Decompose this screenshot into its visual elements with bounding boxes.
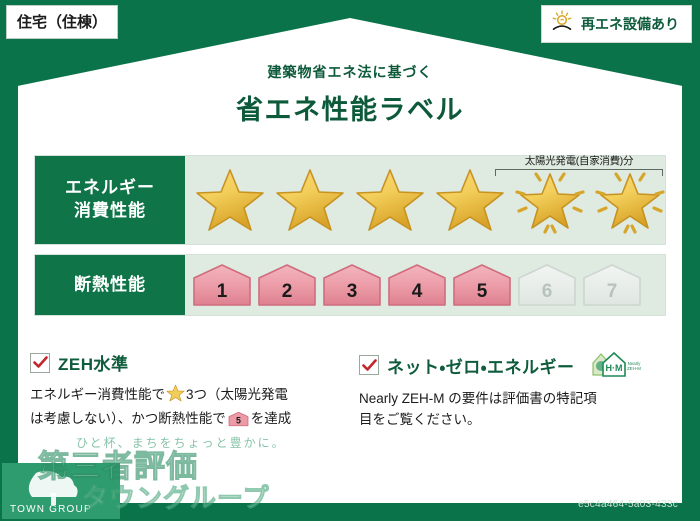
insulation-grade-badge: 7 <box>581 263 643 307</box>
star-filled <box>271 166 349 234</box>
insulation-grade-badge: 3 <box>321 263 383 307</box>
category-tag: 住宅（住棟） <box>6 5 118 39</box>
insulation-grade-badge: 4 <box>386 263 448 307</box>
sun-icon <box>550 10 574 37</box>
insulation-grade-badge: 2 <box>256 263 318 307</box>
criterion-zeh: ZEH水準 エネルギー消費性能で3つ（太陽光発電は考慮しない）、かつ断熱性能で5… <box>30 350 341 434</box>
check-icon <box>362 359 377 372</box>
star-icon <box>166 390 185 405</box>
insulation-grade-number: 7 <box>607 281 618 303</box>
check-icon <box>33 356 48 369</box>
insulation-grade-badge: 1 <box>191 263 253 307</box>
renewable-badge-label: 再エネ設備あり <box>581 14 679 34</box>
svg-text:ZEH-M: ZEH-M <box>627 366 641 371</box>
renewable-energy-badge: 再エネ設備あり <box>541 5 692 43</box>
town-group-logo: TOWN GROUP <box>2 463 120 519</box>
insulation-performance-row: 断熱性能 <box>34 254 666 316</box>
energy-row-value: 太陽光発電(自家消費)分 <box>185 156 669 244</box>
insulation-grade-scale: 1 2 3 <box>191 263 643 307</box>
star-filled <box>431 166 509 234</box>
insulation-grade-number: 6 <box>542 281 553 303</box>
criterion-nze-title: ネット・ゼロ・エネルギー <box>387 353 575 378</box>
zeh-desc-part4: を達成 <box>251 411 292 426</box>
zeh-desc-part3: は考慮しない）、かつ断熱性能で <box>30 411 226 426</box>
net-zero-checkbox[interactable] <box>359 355 379 375</box>
nze-desc-part2: 目をご覧ください。 <box>359 412 481 427</box>
evaluation-code: e5c4a464-5a03-433c <box>578 499 678 510</box>
criterion-nze-description: Nearly ZEH-M の要件は評価書の特記項目をご覧ください。 <box>359 389 670 431</box>
town-group-text: TOWN GROUP <box>10 504 92 515</box>
energy-label-line1: エネルギー <box>65 177 155 200</box>
criterion-net-zero-energy: ネット・ゼロ・エネルギー H·M Nearly ZEH-M Nearly ZEH… <box>359 350 670 434</box>
insulation-row-value: 1 2 3 <box>185 255 665 315</box>
nze-desc-part1: Nearly ZEH-M の要件は評価書の特記項 <box>359 391 597 406</box>
insulation-row-label: 断熱性能 <box>35 255 185 315</box>
evaluation-date: 評価日 2025年11月13日 <box>538 473 682 493</box>
energy-performance-label: 住宅（住棟） 再エネ設備あり 建築物省エネ法に基づく 省エネ性能ラベル <box>0 0 700 521</box>
zeh-m-logo-icon: H·M Nearly ZEH-M <box>589 350 643 380</box>
insulation-grade-inline-badge: 5 <box>228 415 249 430</box>
label-title-block: 建築物省エネ法に基づく 省エネ性能ラベル <box>0 62 700 127</box>
svg-text:5: 5 <box>236 416 241 426</box>
insulation-grade-badge: 5 <box>451 263 513 307</box>
criterion-zeh-description: エネルギー消費性能で3つ（太陽光発電は考慮しない）、かつ断熱性能で5を達成 <box>30 384 341 434</box>
energy-star-rating <box>191 164 669 236</box>
insulation-grade-number: 2 <box>282 281 293 303</box>
energy-performance-row: エネルギー 消費性能 太陽光発電(自家消費)分 <box>34 155 666 245</box>
performance-rows: エネルギー 消費性能 太陽光発電(自家消費)分 <box>34 155 666 325</box>
star-solar-sparkle <box>511 164 589 236</box>
star-solar-sparkle <box>591 164 669 236</box>
zeh-checkbox[interactable] <box>30 353 50 373</box>
page-title: 省エネ性能ラベル <box>0 88 700 127</box>
insulation-grade-number: 5 <box>477 281 488 303</box>
criterion-zeh-title: ZEH水準 <box>58 350 129 375</box>
title-subtitle: 建築物省エネ法に基づく <box>0 62 700 82</box>
insulation-grade-number: 3 <box>347 281 358 303</box>
insulation-grade-number: 1 <box>217 281 228 303</box>
criteria-section: ZEH水準 エネルギー消費性能で3つ（太陽光発電は考慮しない）、かつ断熱性能で5… <box>30 350 670 434</box>
insulation-grade-number: 4 <box>412 281 423 303</box>
zeh-desc-part1: エネルギー消費性能で <box>30 387 165 402</box>
project-name: ②足立区北加平町１ＰＪ <box>232 479 390 499</box>
star-filled <box>191 166 269 234</box>
star-filled <box>351 166 429 234</box>
zeh-desc-part2: 3つ（太陽光発電 <box>186 387 288 402</box>
energy-label-line2: 消費性能 <box>74 200 146 223</box>
svg-text:H·M: H·M <box>605 363 622 373</box>
criterion-zeh-header: ZEH水準 <box>30 350 341 375</box>
insulation-label-text: 断熱性能 <box>74 274 146 297</box>
energy-row-label: エネルギー 消費性能 <box>35 156 185 244</box>
criterion-nze-header: ネット・ゼロ・エネルギー H·M Nearly ZEH-M <box>359 350 670 380</box>
insulation-grade-badge: 6 <box>516 263 578 307</box>
